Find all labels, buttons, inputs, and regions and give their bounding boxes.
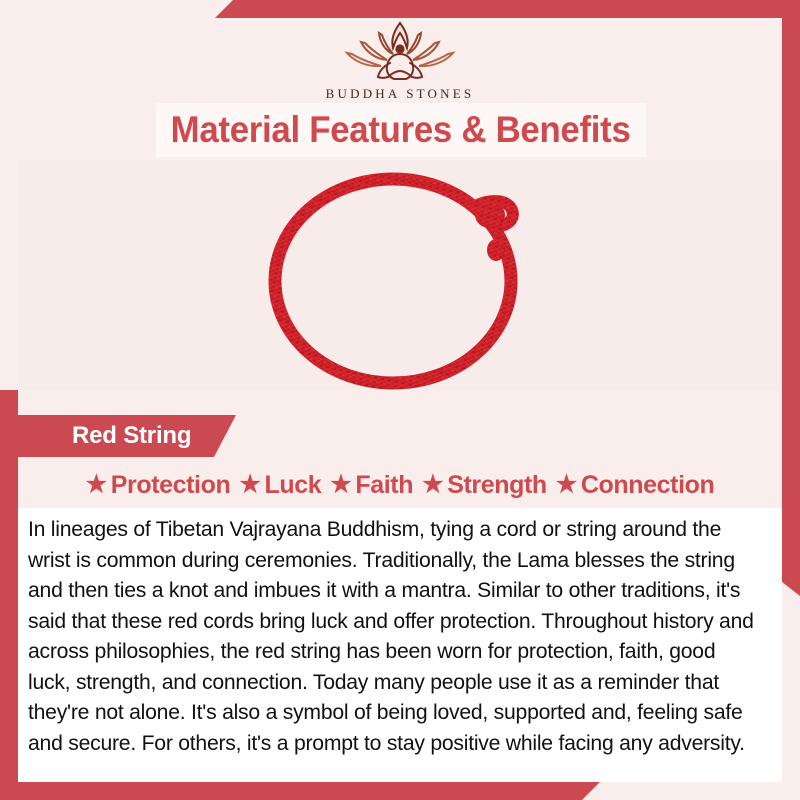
feature-item-strength: ★ Strength — [422, 471, 547, 500]
star-icon: ★ — [86, 473, 107, 497]
brand-logo: BUDDHA STONES — [0, 16, 800, 102]
feature-label: Luck — [264, 471, 321, 500]
feature-item-connection: ★ Connection — [556, 471, 715, 500]
feature-label: Connection — [581, 471, 715, 500]
product-label: Red String — [72, 422, 191, 450]
product-image-area — [18, 160, 782, 390]
star-icon: ★ — [330, 473, 351, 497]
feature-item-faith: ★ Faith — [330, 471, 413, 500]
decorative-band-bottom — [0, 782, 600, 800]
star-icon: ★ — [556, 473, 577, 497]
feature-label: Faith — [355, 471, 413, 500]
description-text: In lineages of Tibetan Vajrayana Buddhis… — [28, 514, 755, 758]
product-label-banner: Red String — [18, 415, 236, 457]
brand-name: BUDDHA STONES — [0, 86, 800, 102]
feature-label: Protection — [111, 471, 231, 500]
lotus-meditation-icon — [335, 16, 465, 84]
description-panel: In lineages of Tibetan Vajrayana Buddhis… — [18, 508, 782, 782]
feature-item-protection: ★ Protection — [86, 471, 231, 500]
decorative-strip-left — [0, 390, 18, 782]
feature-label: Strength — [447, 471, 547, 500]
star-icon: ★ — [239, 473, 260, 497]
title-banner: Material Features & Benefits — [156, 103, 646, 157]
infographic-canvas: BUDDHA STONES Material Features & Benefi… — [0, 0, 800, 800]
page-title: Material Features & Benefits — [171, 109, 631, 151]
red-braided-cord-bracelet-icon — [250, 168, 550, 390]
feature-list: ★ Protection ★ Luck ★ Faith ★ Strength ★… — [18, 465, 782, 505]
feature-item-luck: ★ Luck — [239, 471, 321, 500]
star-icon: ★ — [422, 473, 443, 497]
